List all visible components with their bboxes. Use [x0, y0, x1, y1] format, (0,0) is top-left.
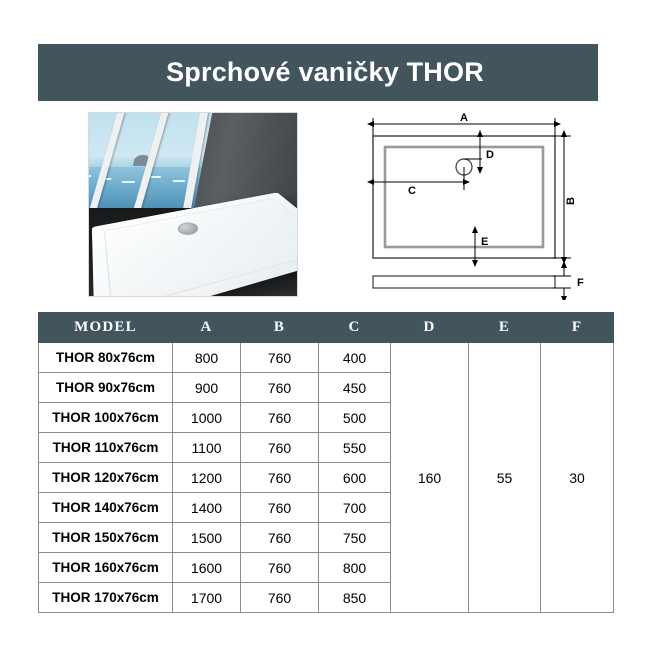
product-photo	[88, 112, 298, 297]
spec-table-head: MODEL A B C D E F	[39, 313, 614, 343]
cell-b: 760	[241, 433, 319, 463]
dimension-f-label: F	[577, 277, 584, 289]
table-row: THOR 80x76cm 800 760 400 160 55 30	[39, 343, 614, 373]
cell-b: 760	[241, 523, 319, 553]
tray-side-profile	[373, 276, 555, 288]
cell-a: 1200	[173, 463, 241, 493]
spec-table-body: THOR 80x76cm 800 760 400 160 55 30 THOR …	[39, 343, 614, 613]
cell-f-merged: 30	[541, 343, 614, 613]
dimension-f	[553, 268, 571, 296]
cell-model: THOR 110x76cm	[39, 433, 173, 463]
cell-model: THOR 160x76cm	[39, 553, 173, 583]
dimension-a-label: A	[460, 112, 468, 124]
boat	[88, 175, 91, 177]
technical-drawing: A B D C E	[355, 110, 613, 300]
cell-c: 400	[319, 343, 391, 373]
cell-b: 760	[241, 493, 319, 523]
col-header-f: F	[541, 313, 614, 343]
cell-model: THOR 150x76cm	[39, 523, 173, 553]
boat	[151, 176, 161, 178]
cell-b: 760	[241, 463, 319, 493]
cell-a: 900	[173, 373, 241, 403]
dimension-e-label: E	[481, 236, 488, 248]
cell-c: 600	[319, 463, 391, 493]
cell-b: 760	[241, 553, 319, 583]
cell-d-merged: 160	[391, 343, 469, 613]
cell-b: 760	[241, 373, 319, 403]
dimension-c-label: C	[408, 185, 416, 197]
cell-c: 750	[319, 523, 391, 553]
cell-c: 800	[319, 553, 391, 583]
cell-c: 700	[319, 493, 391, 523]
header-row: MODEL A B C D E F	[39, 313, 614, 343]
cell-model: THOR 120x76cm	[39, 463, 173, 493]
cell-model: THOR 90x76cm	[39, 373, 173, 403]
boat	[122, 181, 135, 183]
spec-table-container: MODEL A B C D E F THOR 80x76cm 800 760 4…	[38, 312, 613, 613]
cell-model: THOR 80x76cm	[39, 343, 173, 373]
cell-b: 760	[241, 403, 319, 433]
cell-model: THOR 140x76cm	[39, 493, 173, 523]
cell-a: 1600	[173, 553, 241, 583]
col-header-a: A	[173, 313, 241, 343]
cell-a: 1000	[173, 403, 241, 433]
cell-b: 760	[241, 583, 319, 613]
cell-c: 850	[319, 583, 391, 613]
dimension-b-label: B	[565, 197, 577, 205]
cell-a: 1100	[173, 433, 241, 463]
cell-c: 450	[319, 373, 391, 403]
cell-a: 800	[173, 343, 241, 373]
cell-model: THOR 100x76cm	[39, 403, 173, 433]
spec-table: MODEL A B C D E F THOR 80x76cm 800 760 4…	[38, 312, 614, 613]
dimension-b	[553, 136, 571, 258]
cell-c: 550	[319, 433, 391, 463]
boat	[173, 180, 185, 182]
col-header-c: C	[319, 313, 391, 343]
cell-c: 500	[319, 403, 391, 433]
cell-a: 1500	[173, 523, 241, 553]
col-header-b: B	[241, 313, 319, 343]
cell-e-merged: 55	[469, 343, 541, 613]
dimension-d-label: D	[486, 149, 494, 161]
cell-b: 760	[241, 343, 319, 373]
cell-a: 1400	[173, 493, 241, 523]
col-header-d: D	[391, 313, 469, 343]
col-header-e: E	[469, 313, 541, 343]
cell-model: THOR 170x76cm	[39, 583, 173, 613]
cell-a: 1700	[173, 583, 241, 613]
page-title-banner: Sprchové vaničky THOR	[38, 44, 598, 101]
page-title: Sprchové vaničky THOR	[152, 57, 484, 88]
col-header-model: MODEL	[39, 313, 173, 343]
